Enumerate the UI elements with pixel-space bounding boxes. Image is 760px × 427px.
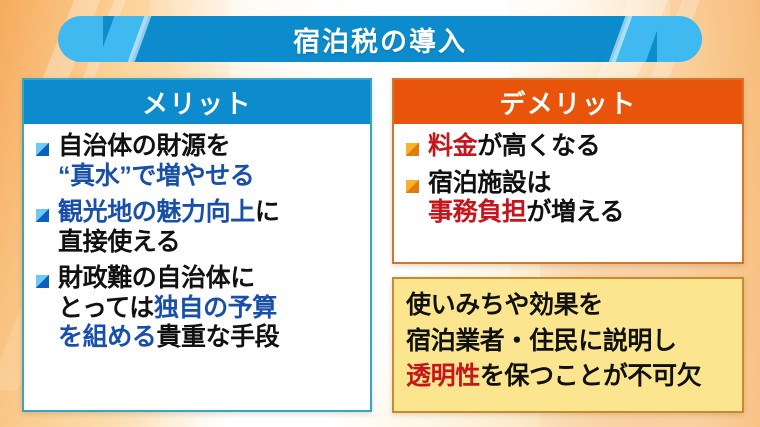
demerit-panel-header: デメリット [394, 80, 742, 124]
note-line-1: 使いみちや効果を [406, 288, 732, 324]
note-highlight: 透明性 [406, 362, 480, 390]
note-line-3: 透明性を保つことが不可欠 [406, 359, 732, 395]
merit-bullet-list: 自治体の財源を “真水”で増やせる 観光地の魅力向上に 直接使える 財政難の自治… [34, 132, 362, 353]
list-item: 料金が高くなる [404, 132, 734, 162]
merit-3-line3-tail: 貴重な手段 [156, 323, 279, 351]
list-item: 財政難の自治体に とっては独自の予算 を組める貴重な手段 [34, 264, 362, 353]
demerit-bullet-list: 料金が高くなる 宿泊施設は 事務負担が増える [404, 132, 734, 228]
demerit-2-line1: 宿泊施設は [428, 169, 734, 199]
list-item: 宿泊施設は 事務負担が増える [404, 169, 734, 228]
merit-3-line2-head: とっては [58, 294, 154, 322]
note-line-3-tail: を保つことが不可欠 [480, 362, 701, 390]
demerit-2-line2: 事務負担が増える [428, 198, 734, 228]
merit-2-line1: 観光地の魅力向上に [58, 198, 362, 228]
bullet-square-icon [36, 209, 49, 222]
demerit-1-line1: 料金が高くなる [428, 132, 734, 162]
note-line-2: 宿泊業者・住民に説明し [406, 324, 732, 360]
demerit-1-highlight: 料金 [428, 132, 477, 160]
merit-2-highlight: 観光地の魅力向上 [58, 198, 255, 226]
merit-3-line2: とっては独自の予算 [58, 294, 362, 324]
note-box: 使いみちや効果を 宿泊業者・住民に説明し 透明性を保つことが不可欠 [392, 277, 744, 413]
demerit-2-highlight: 事務負担 [428, 198, 526, 226]
merit-2-line2: 直接使える [58, 228, 362, 258]
merit-panel: メリット 自治体の財源を “真水”で増やせる 観光地の魅力向上に 直接使える 財… [22, 78, 372, 412]
bullet-square-icon [36, 143, 49, 156]
list-item: 自治体の財源を “真水”で増やせる [34, 132, 362, 191]
merit-3-highlight-a: 独自の予算 [154, 294, 277, 322]
merit-panel-body: 自治体の財源を “真水”で増やせる 観光地の魅力向上に 直接使える 財政難の自治… [24, 124, 370, 359]
demerit-1-tail: が高くなる [477, 132, 600, 160]
merit-2-line1-tail: に [255, 198, 280, 226]
page-title: 宿泊税の導入 [58, 16, 702, 62]
demerit-panel: デメリット 料金が高くなる 宿泊施設は 事務負担が増える [392, 78, 744, 264]
merit-3-highlight-b: を組める [58, 323, 156, 351]
merit-3-line1: 財政難の自治体に [58, 264, 362, 294]
merit-3-line3: を組める貴重な手段 [58, 323, 362, 353]
title-banner: 宿泊税の導入 [58, 16, 702, 62]
merit-panel-header: メリット [24, 80, 370, 124]
list-item: 観光地の魅力向上に 直接使える [34, 198, 362, 257]
merit-1-line2: “真水”で増やせる [58, 162, 362, 192]
bullet-square-icon [406, 143, 419, 156]
bullet-square-icon [36, 275, 49, 288]
demerit-panel-body: 料金が高くなる 宿泊施設は 事務負担が増える [394, 124, 742, 234]
demerit-2-tail: が増える [526, 198, 624, 226]
merit-1-line1: 自治体の財源を [58, 132, 362, 162]
bullet-square-icon [406, 180, 419, 193]
